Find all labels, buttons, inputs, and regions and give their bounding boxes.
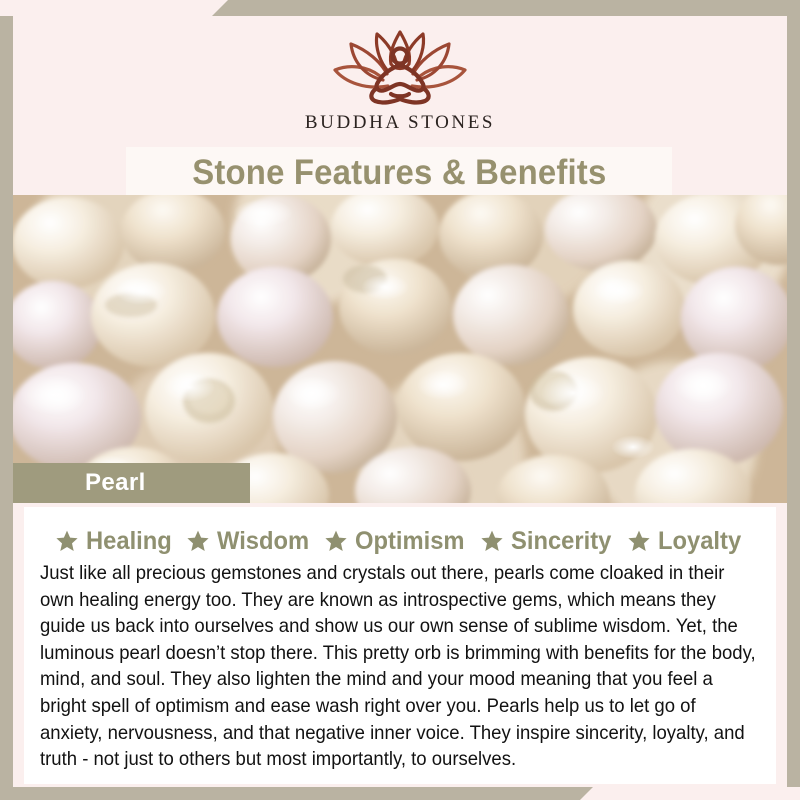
stone-photo: Pearl — [13, 195, 787, 503]
description-paragraph: Just like all precious gemstones and cry… — [40, 561, 758, 774]
stone-name-tab: Pearl — [13, 463, 250, 503]
star-icon — [55, 529, 79, 553]
star-icon — [324, 529, 348, 553]
title-banner: Stone Features & Benefits — [126, 147, 672, 199]
feature-item-optimism: Optimism — [324, 527, 470, 556]
pearl-photo-illustration — [13, 195, 787, 503]
content-card: Healing Wisdom Optimism Sincerity Loyalt… — [24, 507, 776, 784]
feature-label-wisdom: Wisdom — [217, 527, 309, 556]
feature-label-optimism: Optimism — [355, 527, 465, 556]
brand-name: BUDDHA STONES — [305, 112, 495, 134]
star-icon — [186, 529, 210, 553]
star-icon — [627, 529, 651, 553]
feature-item-wisdom: Wisdom — [186, 527, 314, 556]
stone-name-label: Pearl — [85, 469, 146, 497]
star-icon — [480, 529, 504, 553]
infographic-page: BUDDHA STONES Stone Features & Benefits — [0, 0, 800, 800]
page-title: Stone Features & Benefits — [192, 153, 606, 193]
feature-label-loyalty: Loyalty — [658, 527, 741, 556]
feature-item-sincerity: Sincerity — [480, 527, 617, 556]
left-border-band — [0, 16, 13, 787]
lotus-meditation-icon — [325, 26, 475, 110]
feature-item-loyalty: Loyalty — [627, 527, 746, 556]
page-surface: BUDDHA STONES Stone Features & Benefits — [13, 16, 787, 787]
feature-label-sincerity: Sincerity — [511, 527, 611, 556]
feature-item-healing: Healing — [55, 527, 176, 556]
right-border-band — [787, 16, 800, 787]
feature-label-healing: Healing — [86, 527, 172, 556]
brand-block: BUDDHA STONES — [13, 16, 787, 146]
top-corner-band — [0, 0, 800, 16]
feature-list: Healing Wisdom Optimism Sincerity Loyalt… — [40, 523, 760, 559]
